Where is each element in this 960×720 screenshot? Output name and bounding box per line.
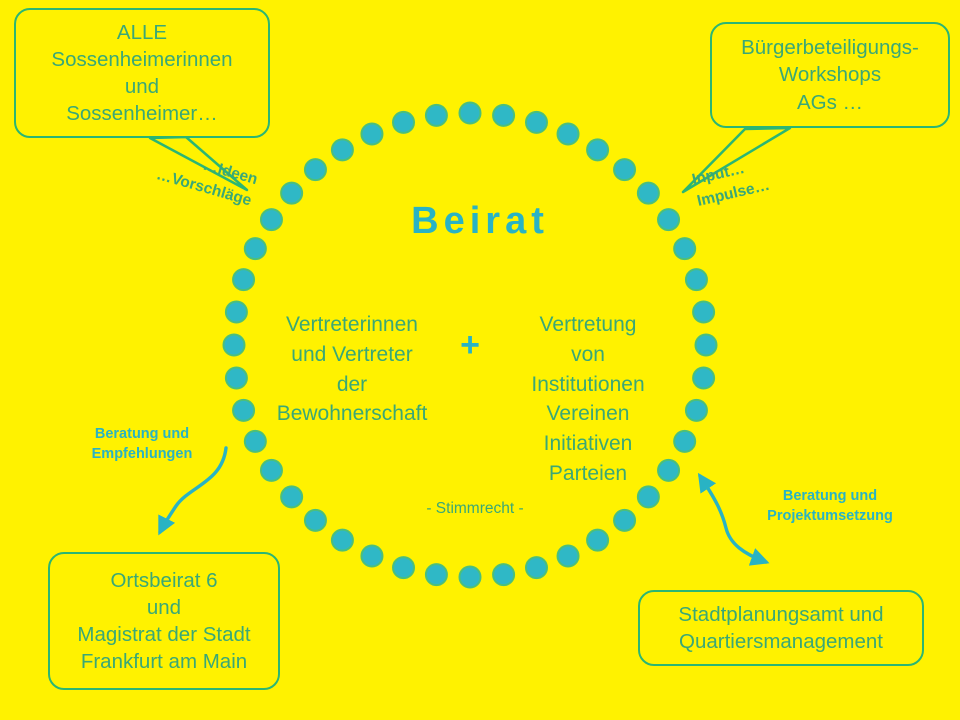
ring-dot xyxy=(674,238,695,259)
box-stadtplanungsamt-quartiersmanagement[interactable]: Stadtplanungsamt und Quartiersmanagement xyxy=(638,590,924,666)
ring-dot xyxy=(526,112,547,133)
ring-dot xyxy=(426,105,447,126)
ring-dot xyxy=(226,301,247,322)
ring-dot xyxy=(587,530,608,551)
diagram-canvas: ALLE Sossenheimerinnen und Sossenheimer…… xyxy=(0,0,960,720)
ring-dot xyxy=(493,105,514,126)
ring-dot xyxy=(245,431,266,452)
ring-dot xyxy=(460,103,481,124)
center-title-beirat: Beirat xyxy=(300,200,660,243)
annotation-beratung-projektumsetzung: Beratung und Projektumsetzung xyxy=(746,486,914,527)
ring-dot xyxy=(233,400,254,421)
ring-dot xyxy=(361,123,382,144)
ring-dot xyxy=(224,335,245,356)
center-footnote-stimmrecht: - Stimmrecht - xyxy=(395,500,555,518)
annotation-ideen-vorschlaege: …Ideen …Vorschläge xyxy=(113,131,260,213)
ring-dot xyxy=(638,486,659,507)
speech-bubble-all-residents[interactable]: ALLE Sossenheimerinnen und Sossenheimer… xyxy=(14,8,270,138)
speech-bubble-workshops[interactable]: Bürgerbeteiligungs- Workshops AGs … xyxy=(710,22,950,128)
ring-dot xyxy=(305,159,326,180)
ring-dot xyxy=(558,123,579,144)
ring-dot xyxy=(460,567,481,588)
ring-dot xyxy=(587,139,608,160)
ring-dot xyxy=(426,564,447,585)
ring-dot xyxy=(245,238,266,259)
ring-dot xyxy=(696,335,717,356)
ring-dot xyxy=(332,139,353,160)
ring-dot xyxy=(305,510,326,531)
ring-dot xyxy=(693,301,714,322)
center-column-right: Vertretung von Institutionen Vereinen In… xyxy=(498,310,678,489)
ring-dot xyxy=(493,564,514,585)
ring-dot xyxy=(558,546,579,567)
ring-dot xyxy=(361,546,382,567)
ring-dot xyxy=(393,112,414,133)
ring-dot xyxy=(261,460,282,481)
ring-dot xyxy=(281,183,302,204)
ring-dot xyxy=(233,269,254,290)
ring-dot xyxy=(686,400,707,421)
ring-dot xyxy=(658,209,679,230)
ring-dot xyxy=(614,159,635,180)
ring-dot xyxy=(281,486,302,507)
center-column-left: Vertreterinnen und Vertreter der Bewohne… xyxy=(262,310,442,429)
ring-dot xyxy=(226,368,247,389)
ring-dot xyxy=(261,209,282,230)
annotation-beratung-empfehlungen: Beratung und Empfehlungen xyxy=(66,424,218,465)
box-ortsbeirat-magistrat[interactable]: Ortsbeirat 6 und Magistrat der Stadt Fra… xyxy=(48,552,280,690)
ring-dot xyxy=(393,557,414,578)
ring-dot xyxy=(686,269,707,290)
ring-dot xyxy=(332,530,353,551)
plus-icon: + xyxy=(446,328,494,362)
annotation-input-impulse: Input… Impulse… xyxy=(690,141,827,214)
ring-dot xyxy=(693,368,714,389)
ring-dot xyxy=(614,510,635,531)
ring-dot xyxy=(526,557,547,578)
